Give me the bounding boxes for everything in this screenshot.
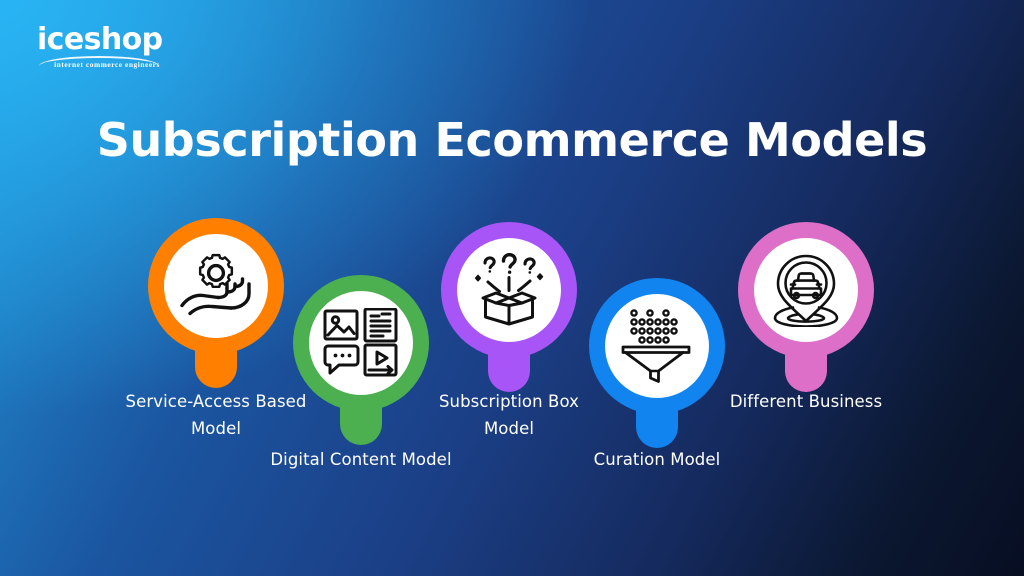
mystery-box-icon: [470, 253, 548, 327]
pin-ring: [738, 222, 874, 358]
pin-disc: [605, 294, 709, 398]
label-line-1: Digital Content Model: [229, 446, 493, 473]
gear-on-hand-icon: [179, 251, 253, 321]
pin-ring: [441, 222, 577, 358]
pin-service-access-based-model[interactable]: [148, 218, 284, 388]
label-service-access-based-model: Service-Access Based Model: [84, 388, 348, 442]
label-subscription-box-model: Subscription Box Model: [377, 388, 641, 442]
pin-disc: [457, 238, 561, 342]
pin-disc: [164, 234, 268, 338]
label-line-1: Different Business: [674, 388, 938, 415]
label-line-2: Model: [84, 415, 348, 442]
pin-disc: [309, 291, 413, 395]
iceshop-logo: iceshop internet commerce engineers: [37, 25, 162, 69]
label-curation-model: Curation Model: [525, 446, 789, 473]
pin-disc: [754, 238, 858, 342]
slide-canvas: iceshop internet commerce engineers Subs…: [0, 0, 1024, 576]
label-different-business: Different Business: [674, 388, 938, 415]
pin-subscription-box-model[interactable]: [441, 222, 577, 392]
pin-ring: [148, 218, 284, 354]
map-pin-taxi-icon: [767, 253, 845, 327]
label-line-1: Subscription Box: [377, 388, 641, 415]
pin-ring: [589, 278, 725, 414]
pin-ring: [293, 275, 429, 411]
label-digital-content-model: Digital Content Model: [229, 446, 493, 473]
pin-different-business[interactable]: [738, 222, 874, 392]
label-line-1: Service-Access Based: [84, 388, 348, 415]
page-title: Subscription Ecommerce Models: [0, 112, 1024, 168]
label-line-1: Curation Model: [525, 446, 789, 473]
logo-wordmark: iceshop: [37, 25, 162, 55]
logo-tagline: internet commerce engineers: [47, 60, 167, 69]
funnel-filter-icon: [619, 309, 695, 383]
media-content-grid-icon: [322, 308, 400, 378]
label-line-2: Model: [377, 415, 641, 442]
